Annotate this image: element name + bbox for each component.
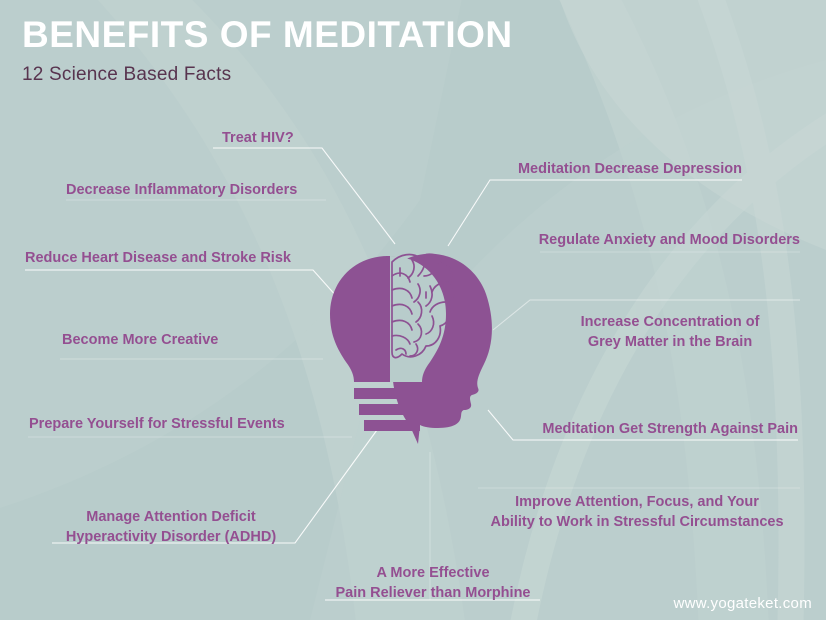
bulb-base-bars-icon: [354, 388, 422, 431]
benefit-line: A More Effective: [320, 564, 546, 584]
benefit-line: Grey Matter in the Brain: [540, 333, 800, 353]
benefit-line: Become More Creative: [62, 331, 218, 351]
benefit-line: Reduce Heart Disease and Stroke Risk: [25, 249, 291, 269]
benefit-line: Pain Reliever than Morphine: [320, 584, 546, 604]
benefit-label-increase-grey-matter[interactable]: Increase Concentration of Grey Matter in…: [540, 313, 800, 352]
benefit-line: Decrease Inflammatory Disorders: [66, 181, 297, 201]
benefit-line: Meditation Get Strength Against Pain: [498, 420, 798, 440]
benefit-line: Ability to Work in Stressful Circumstanc…: [474, 513, 800, 533]
benefit-label-decrease-inflammatory[interactable]: Decrease Inflammatory Disorders: [66, 181, 297, 201]
benefit-line: Prepare Yourself for Stressful Events: [29, 415, 285, 435]
benefit-label-become-creative[interactable]: Become More Creative: [62, 331, 218, 351]
page-title: BENEFITS OF MEDITATION: [22, 16, 513, 55]
benefit-line: Hyperactivity Disorder (ADHD): [46, 528, 296, 548]
benefit-label-improve-attention[interactable]: Improve Attention, Focus, and Your Abili…: [474, 493, 800, 532]
footer-website-url[interactable]: www.yogateket.com: [674, 595, 813, 612]
benefit-line: Improve Attention, Focus, and Your: [474, 493, 800, 513]
benefit-label-decrease-depression[interactable]: Meditation Decrease Depression: [442, 160, 742, 180]
benefit-label-strength-against-pain[interactable]: Meditation Get Strength Against Pain: [498, 420, 798, 440]
benefit-line: Meditation Decrease Depression: [442, 160, 742, 180]
benefit-line: Increase Concentration of: [540, 313, 800, 333]
benefit-label-pain-reliever-morphine[interactable]: A More Effective Pain Reliever than Morp…: [320, 564, 546, 603]
benefit-label-reduce-heart-disease[interactable]: Reduce Heart Disease and Stroke Risk: [25, 249, 291, 269]
connector-reduce-heart-disease: [25, 270, 346, 307]
benefit-line: Treat HIV?: [222, 129, 294, 149]
header-block: BENEFITS OF MEDITATION 12 Science Based …: [22, 16, 513, 86]
benefit-line: Manage Attention Deficit: [46, 508, 296, 528]
benefit-label-prepare-stressful[interactable]: Prepare Yourself for Stressful Events: [29, 415, 285, 435]
lightbulb-brain-head-icon: [326, 232, 510, 448]
benefit-line: Regulate Anxiety and Mood Disorders: [500, 231, 800, 251]
benefit-label-regulate-anxiety[interactable]: Regulate Anxiety and Mood Disorders: [500, 231, 800, 251]
page-subtitle: 12 Science Based Facts: [22, 64, 513, 86]
benefit-label-manage-adhd[interactable]: Manage Attention Deficit Hyperactivity D…: [46, 508, 296, 547]
benefit-label-treat-hiv[interactable]: Treat HIV?: [222, 129, 294, 149]
